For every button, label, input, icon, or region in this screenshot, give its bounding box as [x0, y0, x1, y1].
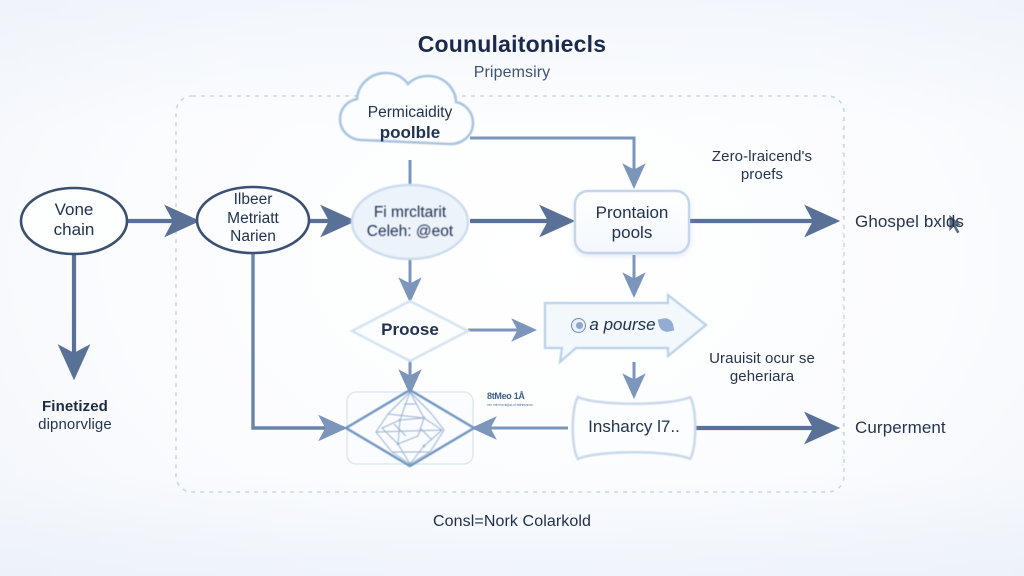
network-tag: 8tMeo 1Å ner mtrh hmtqlus of ldtinerarws [487, 392, 533, 407]
side-label-curperment: Curperment [855, 418, 946, 439]
diagram-vector-layer [0, 0, 1024, 576]
connectors-thin [253, 138, 634, 428]
side-label-gospel: Ghospel bxlds [855, 212, 964, 233]
side-label-zk-line2: proefs [672, 166, 852, 184]
node-second-shape[interactable] [197, 187, 309, 253]
side-label-urauisit: Urauisit ocur se geheriara [672, 350, 852, 387]
diagram-caption: Consl=Nork Colarkold [0, 512, 1024, 532]
node-pools-shape[interactable] [575, 191, 689, 253]
network-tag-text: 8tMeo 1Å [487, 391, 525, 401]
node-center-shape[interactable] [352, 185, 468, 259]
node-shard-shape[interactable] [573, 397, 696, 459]
side-label-finetized-line1: Finetized [0, 398, 150, 416]
page-subtitle: Pripemsiry [0, 63, 1024, 83]
network-tag-subtext: ner mtrh hmtqlus of ldtinerarws [487, 403, 533, 407]
side-label-urauisit-line2: geheriara [672, 368, 852, 386]
diagram-canvas: Counulaitoniecls Pripemsiry Permicaidity… [0, 0, 1024, 576]
side-label-urauisit-line1: Urauisit ocur se [672, 350, 852, 368]
side-label-finetized-line2: dipnorvlige [0, 416, 150, 434]
node-decision-shape[interactable] [352, 301, 468, 361]
side-label-finetized: Finetized dipnorvlige [0, 398, 150, 435]
node-network-shape[interactable] [346, 390, 474, 466]
page-title: Counulaitoniecls [0, 30, 1024, 58]
node-source-shape[interactable] [21, 188, 127, 254]
side-label-zero-knowledge: Zero-lraicend's proefs [672, 148, 852, 185]
node-cloud-shape[interactable] [340, 73, 473, 144]
side-label-zk-line1: Zero-lraicend's [672, 148, 852, 166]
